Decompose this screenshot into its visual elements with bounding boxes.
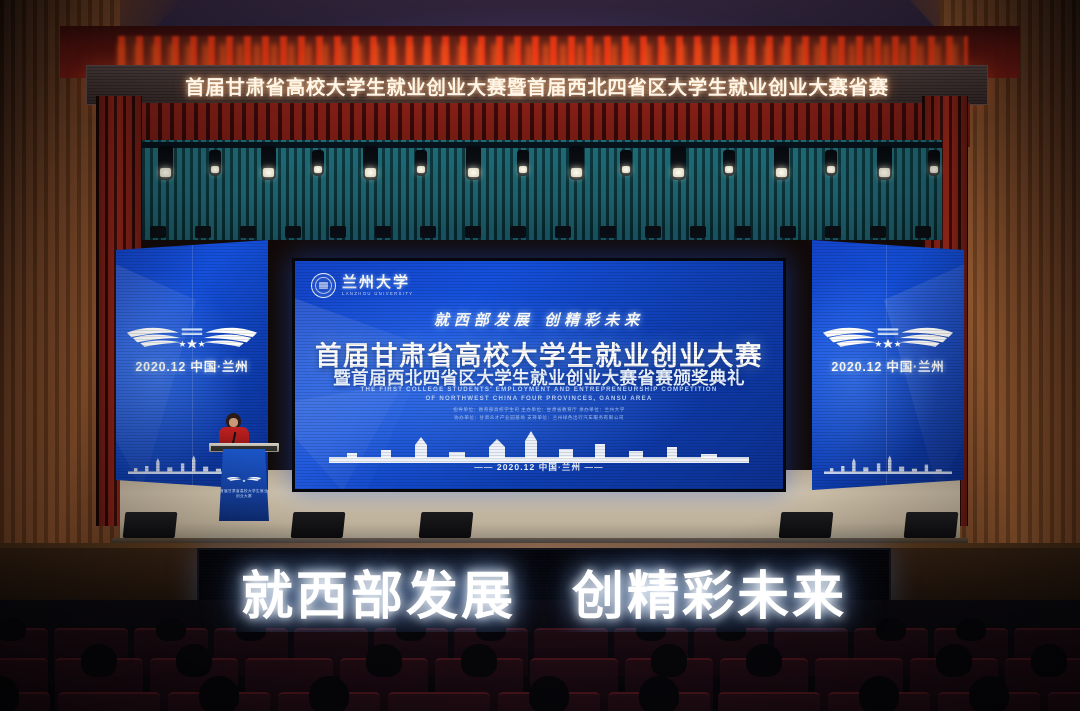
- floor-uplight: [915, 226, 931, 238]
- stage-monitor-speaker: [123, 512, 178, 538]
- stage-spotlight: [312, 150, 324, 176]
- screen-english-line-2: OF NORTHWEST CHINA FOUR PROVINCES, GANSU…: [295, 395, 783, 402]
- audience-seating: [0, 600, 1080, 711]
- stage-spotlight: [825, 150, 837, 176]
- audience-seat: [718, 692, 820, 711]
- audience-member: [199, 676, 240, 711]
- audience-member: [876, 618, 906, 641]
- floor-uplight: [600, 226, 616, 238]
- stage-spotlight: [928, 150, 940, 176]
- spotlight-lens: [468, 168, 479, 177]
- floor-uplight: [690, 226, 706, 238]
- side-screen-right: 2020.12 中国·兰州: [812, 240, 964, 490]
- spotlight-lens: [930, 166, 938, 173]
- floor-uplight: [195, 226, 211, 238]
- spotlight-lens: [263, 168, 274, 177]
- stage-spotlight: [774, 146, 789, 180]
- stage-spotlight: [517, 150, 529, 176]
- floor-uplight: [240, 226, 256, 238]
- audience-member: [309, 676, 350, 711]
- audience-member: [529, 676, 570, 711]
- stage-spotlight: [569, 146, 584, 180]
- spotlight-lens: [519, 166, 527, 173]
- spotlight-lens: [314, 166, 322, 173]
- podium-winged-emblem-icon: [225, 471, 263, 487]
- floor-uplight: [420, 226, 436, 238]
- university-name-en: LANZHOU UNIVERSITY: [342, 292, 414, 296]
- top-led-banner: 首届甘肃省高校大学生就业创业大赛暨首届西北四省区大学生就业创业大赛省赛: [86, 65, 988, 105]
- floor-uplight: [375, 226, 391, 238]
- audience-member: [0, 618, 26, 641]
- floor-uplight: [510, 226, 526, 238]
- bottom-banner-phrase-2: 创精彩未来: [572, 554, 847, 629]
- stage-spotlight: [877, 146, 892, 180]
- stage-monitor-speaker: [904, 512, 959, 538]
- screen-english-line-1: THE FIRST COLLEGE STUDENTS' EMPLOYMENT A…: [295, 386, 783, 393]
- auditorium-scene: 首届甘肃省高校大学生就业创业大赛暨首届西北四省区大学生就业创业大赛省赛: [0, 0, 1080, 711]
- stage-monitor-speaker: [419, 512, 474, 538]
- spotlight-lens: [776, 168, 787, 177]
- spotlight-lens: [827, 166, 835, 173]
- floor-uplight: [465, 226, 481, 238]
- top-led-banner-text: 首届甘肃省高校大学生就业创业大赛暨首届西北四省区大学生就业创业大赛省赛: [185, 71, 889, 100]
- spotlight-lens: [365, 168, 376, 177]
- winged-emblem-icon: [116, 318, 268, 352]
- bottom-banner-phrase-1: 就西部发展: [241, 554, 516, 629]
- audience-member: [651, 644, 686, 676]
- side-screen-right-date: 2020.12 中国·兰州: [812, 356, 964, 375]
- stage-spotlight: [671, 146, 686, 180]
- podium-front-text: 首届甘肃省高校大学生就业创业大赛: [219, 489, 269, 499]
- spotlight-lens: [160, 168, 171, 177]
- audience-member: [969, 676, 1010, 711]
- skyline-icon: [824, 454, 952, 474]
- spotlight-lens: [673, 168, 684, 177]
- main-led-screen: 兰州大学 LANZHOU UNIVERSITY 就西部发展 创精彩未来 首届甘肃…: [292, 258, 786, 492]
- stage-spotlight: [723, 150, 735, 176]
- audience-member: [176, 644, 211, 676]
- speaker-face: [229, 418, 238, 427]
- audience-member: [461, 644, 496, 676]
- audience-seat: [1048, 692, 1080, 711]
- stage-spotlight: [209, 150, 221, 176]
- audience-member: [956, 618, 986, 641]
- audience-member: [639, 676, 680, 711]
- stage-monitor-speaker: [291, 512, 346, 538]
- side-screen-left-date: 2020.12 中国·兰州: [116, 356, 268, 375]
- floor-uplight: [330, 226, 346, 238]
- spotlight-lens: [211, 166, 219, 173]
- floor-uplight: [825, 226, 841, 238]
- university-emblem-icon: [311, 273, 336, 298]
- stage-spotlight: [158, 146, 173, 180]
- stage-spotlight: [466, 146, 481, 180]
- floor-uplight: [780, 226, 796, 238]
- screen-script-tagline: 就西部发展 创精彩未来: [295, 309, 783, 330]
- floor-uplight: [870, 226, 886, 238]
- floor-uplight: [555, 226, 571, 238]
- stage-spotlight: [415, 150, 427, 176]
- audience-member: [859, 676, 900, 711]
- lanzhou-university-logo: 兰州大学 LANZHOU UNIVERSITY: [311, 273, 414, 298]
- stage-spotlight: [620, 150, 632, 176]
- audience-member: [1031, 644, 1066, 676]
- audience-seat: [388, 692, 490, 711]
- screen-dateline: —— 2020.12 中国·兰州 ——: [295, 461, 783, 473]
- spotlight-lens: [622, 166, 630, 173]
- audience-seat: [58, 692, 160, 711]
- stage-spotlight: [261, 146, 276, 180]
- audience-member: [366, 644, 401, 676]
- floor-uplight: [645, 226, 661, 238]
- spotlight-lens: [417, 166, 425, 173]
- podium: 首届甘肃省高校大学生就业创业大赛: [219, 449, 269, 521]
- spotlight-lens: [571, 168, 582, 177]
- screen-organizer-line-2: 协办单位：甘肃众才产业园基地 支持单位：兰州绿色出行汽车服务有限公司: [295, 415, 783, 421]
- floor-uplight: [285, 226, 301, 238]
- floor-uplight: [735, 226, 751, 238]
- winged-emblem-icon: [812, 318, 964, 352]
- spotlight-lens: [879, 168, 890, 177]
- floor-uplight: [150, 226, 166, 238]
- stage-monitor-speaker: [779, 512, 834, 538]
- audience-member: [936, 644, 971, 676]
- audience-member: [746, 644, 781, 676]
- university-name-cn: 兰州大学: [342, 275, 414, 290]
- screen-organizer-line-1: 指导单位：教育部高校学生司 主办单位：甘肃省教育厅 承办单位：兰州大学: [295, 407, 783, 413]
- skyline-icon: [329, 427, 749, 463]
- spotlight-lens: [725, 166, 733, 173]
- audience-member: [81, 644, 116, 676]
- stage-spotlight: [363, 146, 378, 180]
- audience-member: [156, 618, 186, 641]
